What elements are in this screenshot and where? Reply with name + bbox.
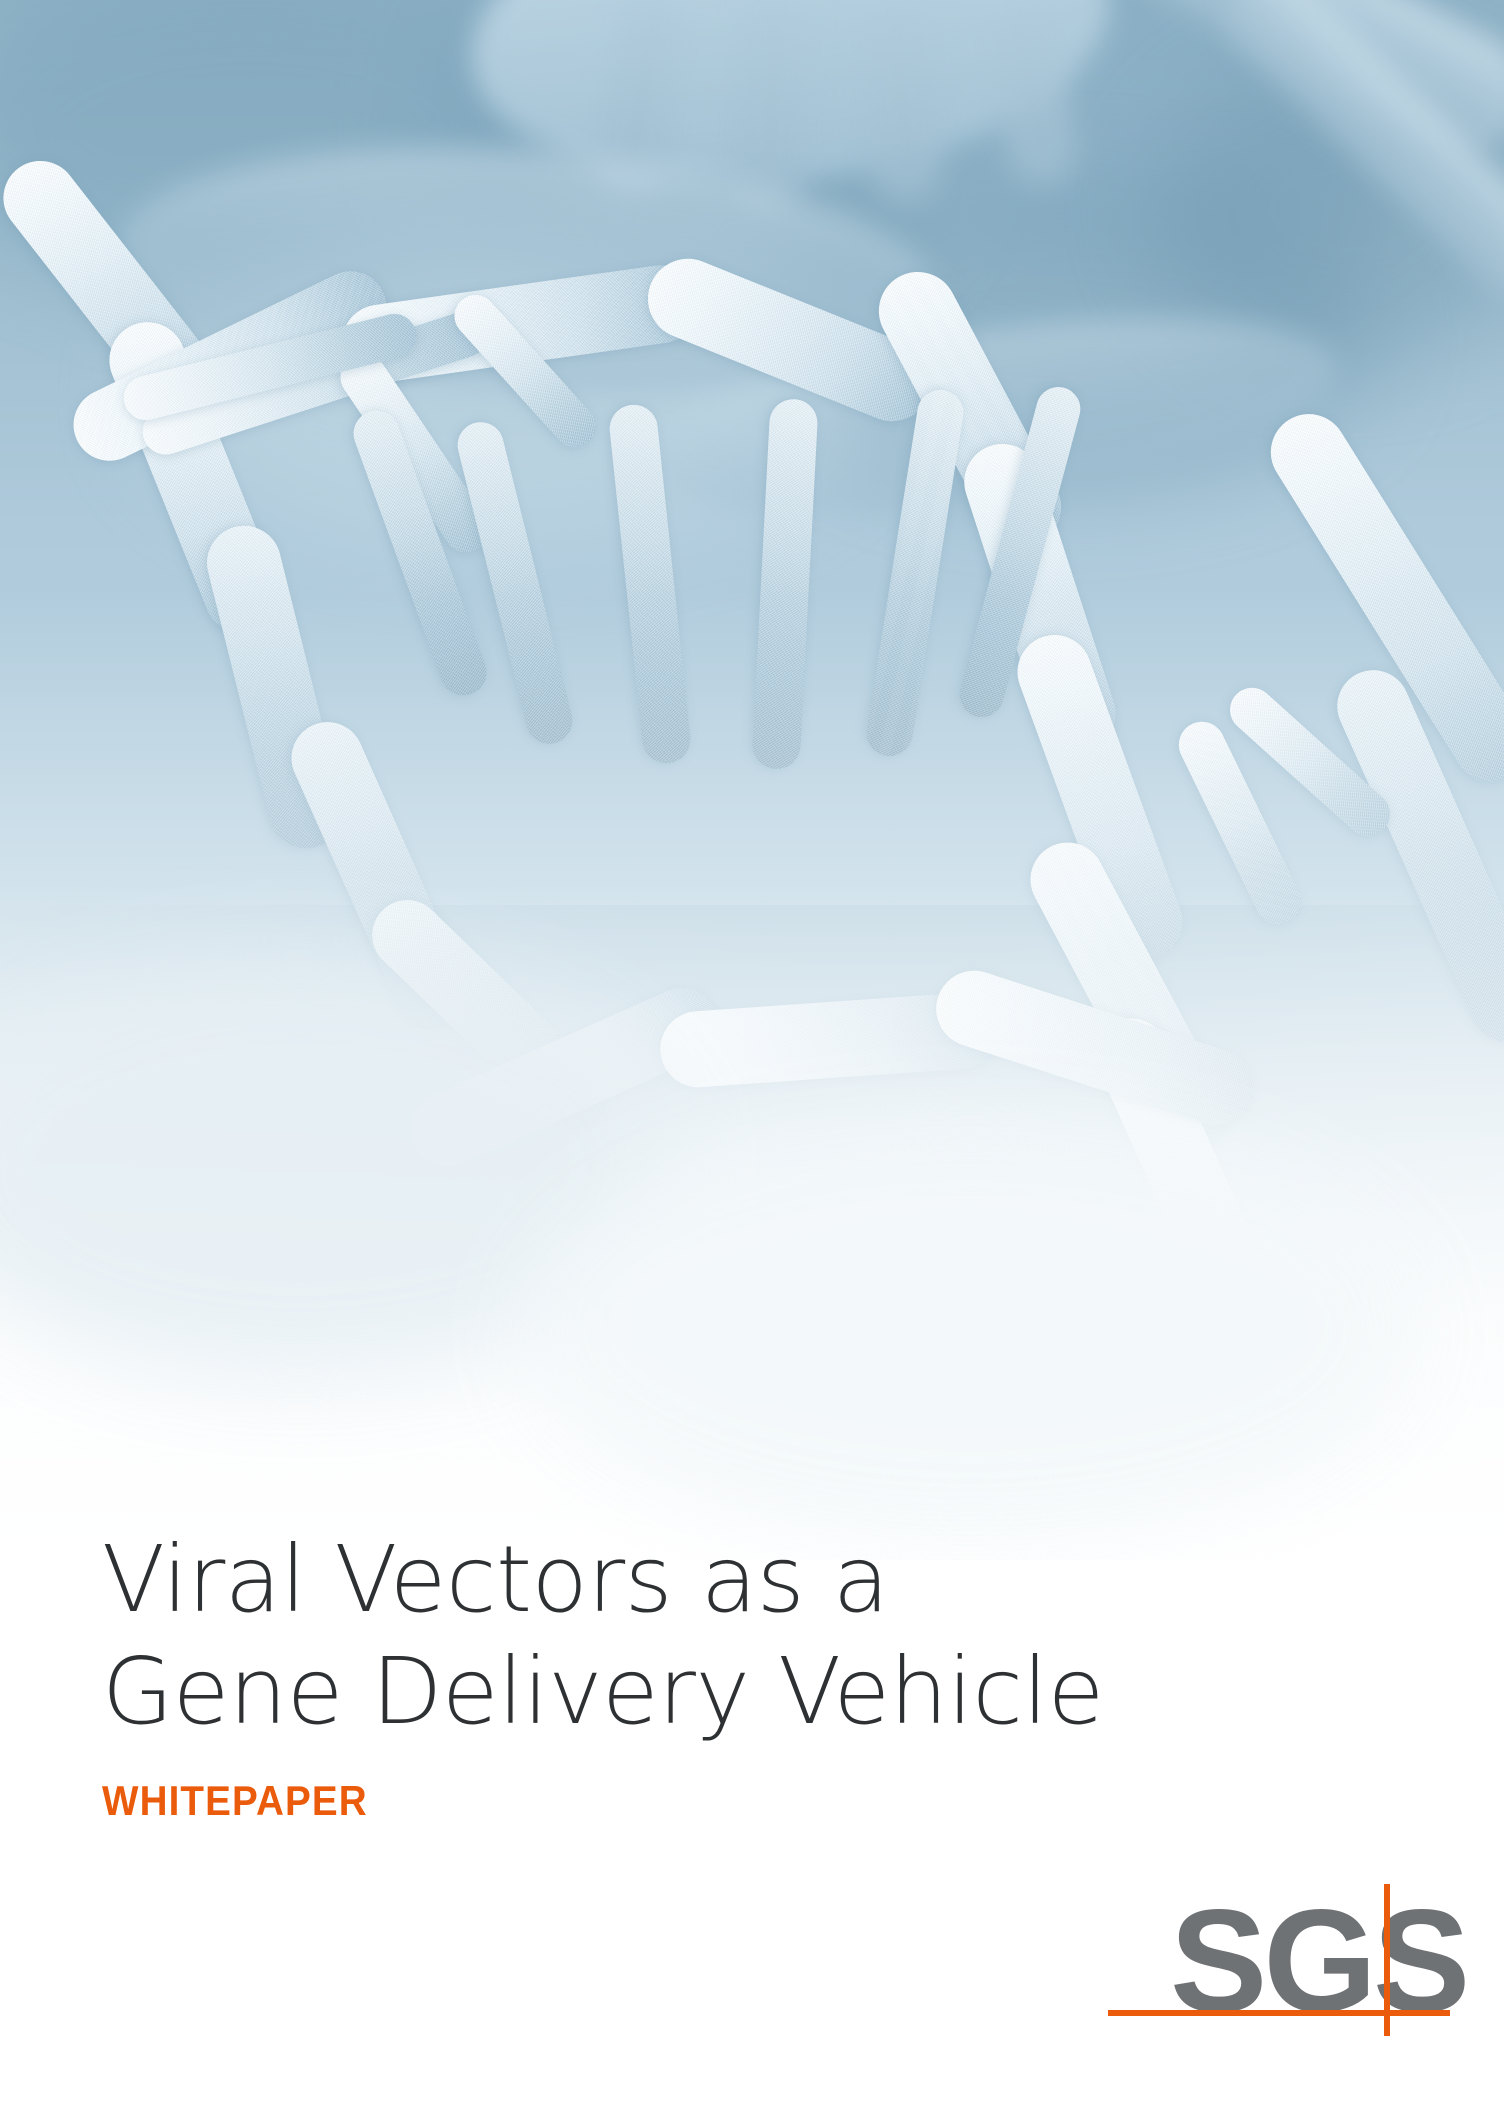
sgs-logo-vertical-rule bbox=[1384, 1884, 1390, 2036]
whitepaper-cover-page: Viral Vectors as a Gene Delivery Vehicle… bbox=[0, 0, 1504, 2104]
document-type-label: WHITEPAPER bbox=[102, 1748, 1206, 1824]
sgs-logo: SGS bbox=[1094, 1876, 1444, 2046]
cover-title-block: Viral Vectors as a Gene Delivery Vehicle… bbox=[102, 1524, 1302, 1824]
background-blur-blob bbox=[520, 1120, 1420, 1540]
sgs-logo-horizontal-rule bbox=[1108, 2010, 1450, 2016]
page-title: Viral Vectors as a Gene Delivery Vehicle bbox=[102, 1524, 1302, 1748]
cover-hero-image bbox=[0, 0, 1504, 1560]
